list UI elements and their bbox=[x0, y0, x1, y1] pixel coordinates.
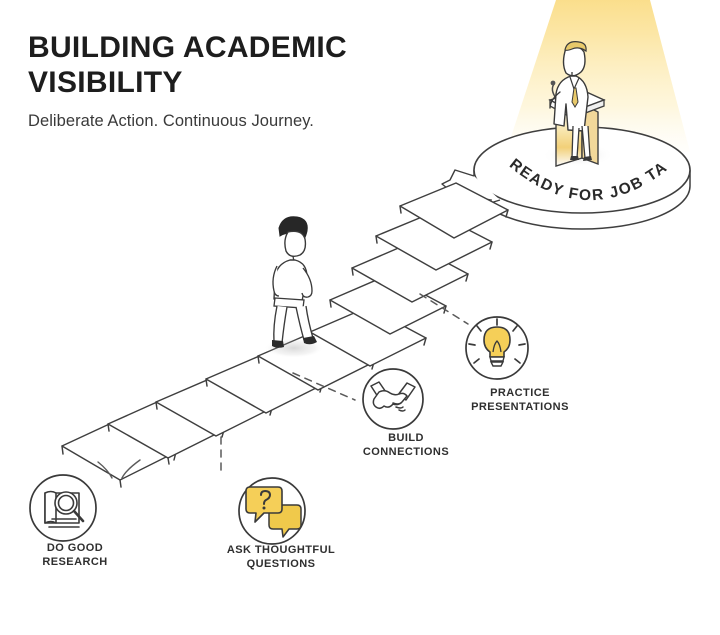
label-practice-presentations: PRACTICE PRESENTATIONS bbox=[440, 386, 600, 414]
infographic-canvas: BUILDING ACADEMICVISIBILITY Deliberate A… bbox=[0, 0, 720, 635]
label-ask-thoughtful-questions: ASK THOUGHTFUL QUESTIONS bbox=[196, 543, 366, 571]
icon-ask-thoughtful-questions[interactable] bbox=[239, 478, 305, 544]
icon-build-connections[interactable] bbox=[363, 369, 423, 429]
walking-person-figure bbox=[272, 217, 317, 348]
icon-do-good-research[interactable] bbox=[30, 475, 96, 541]
page-title: BUILDING ACADEMICVISIBILITY bbox=[28, 30, 448, 101]
header: BUILDING ACADEMICVISIBILITY Deliberate A… bbox=[28, 30, 448, 131]
label-build-connections: BUILD CONNECTIONS bbox=[331, 431, 481, 459]
label-do-good-research: DO GOOD RESEARCH bbox=[0, 541, 150, 569]
page-subtitle: Deliberate Action. Continuous Journey. bbox=[28, 112, 448, 131]
page-title-line-1: BUILDING ACADEMIC bbox=[28, 31, 347, 64]
icon-practice-presentations[interactable] bbox=[466, 317, 528, 379]
page-title-line-2: VISIBILITY bbox=[28, 66, 183, 99]
